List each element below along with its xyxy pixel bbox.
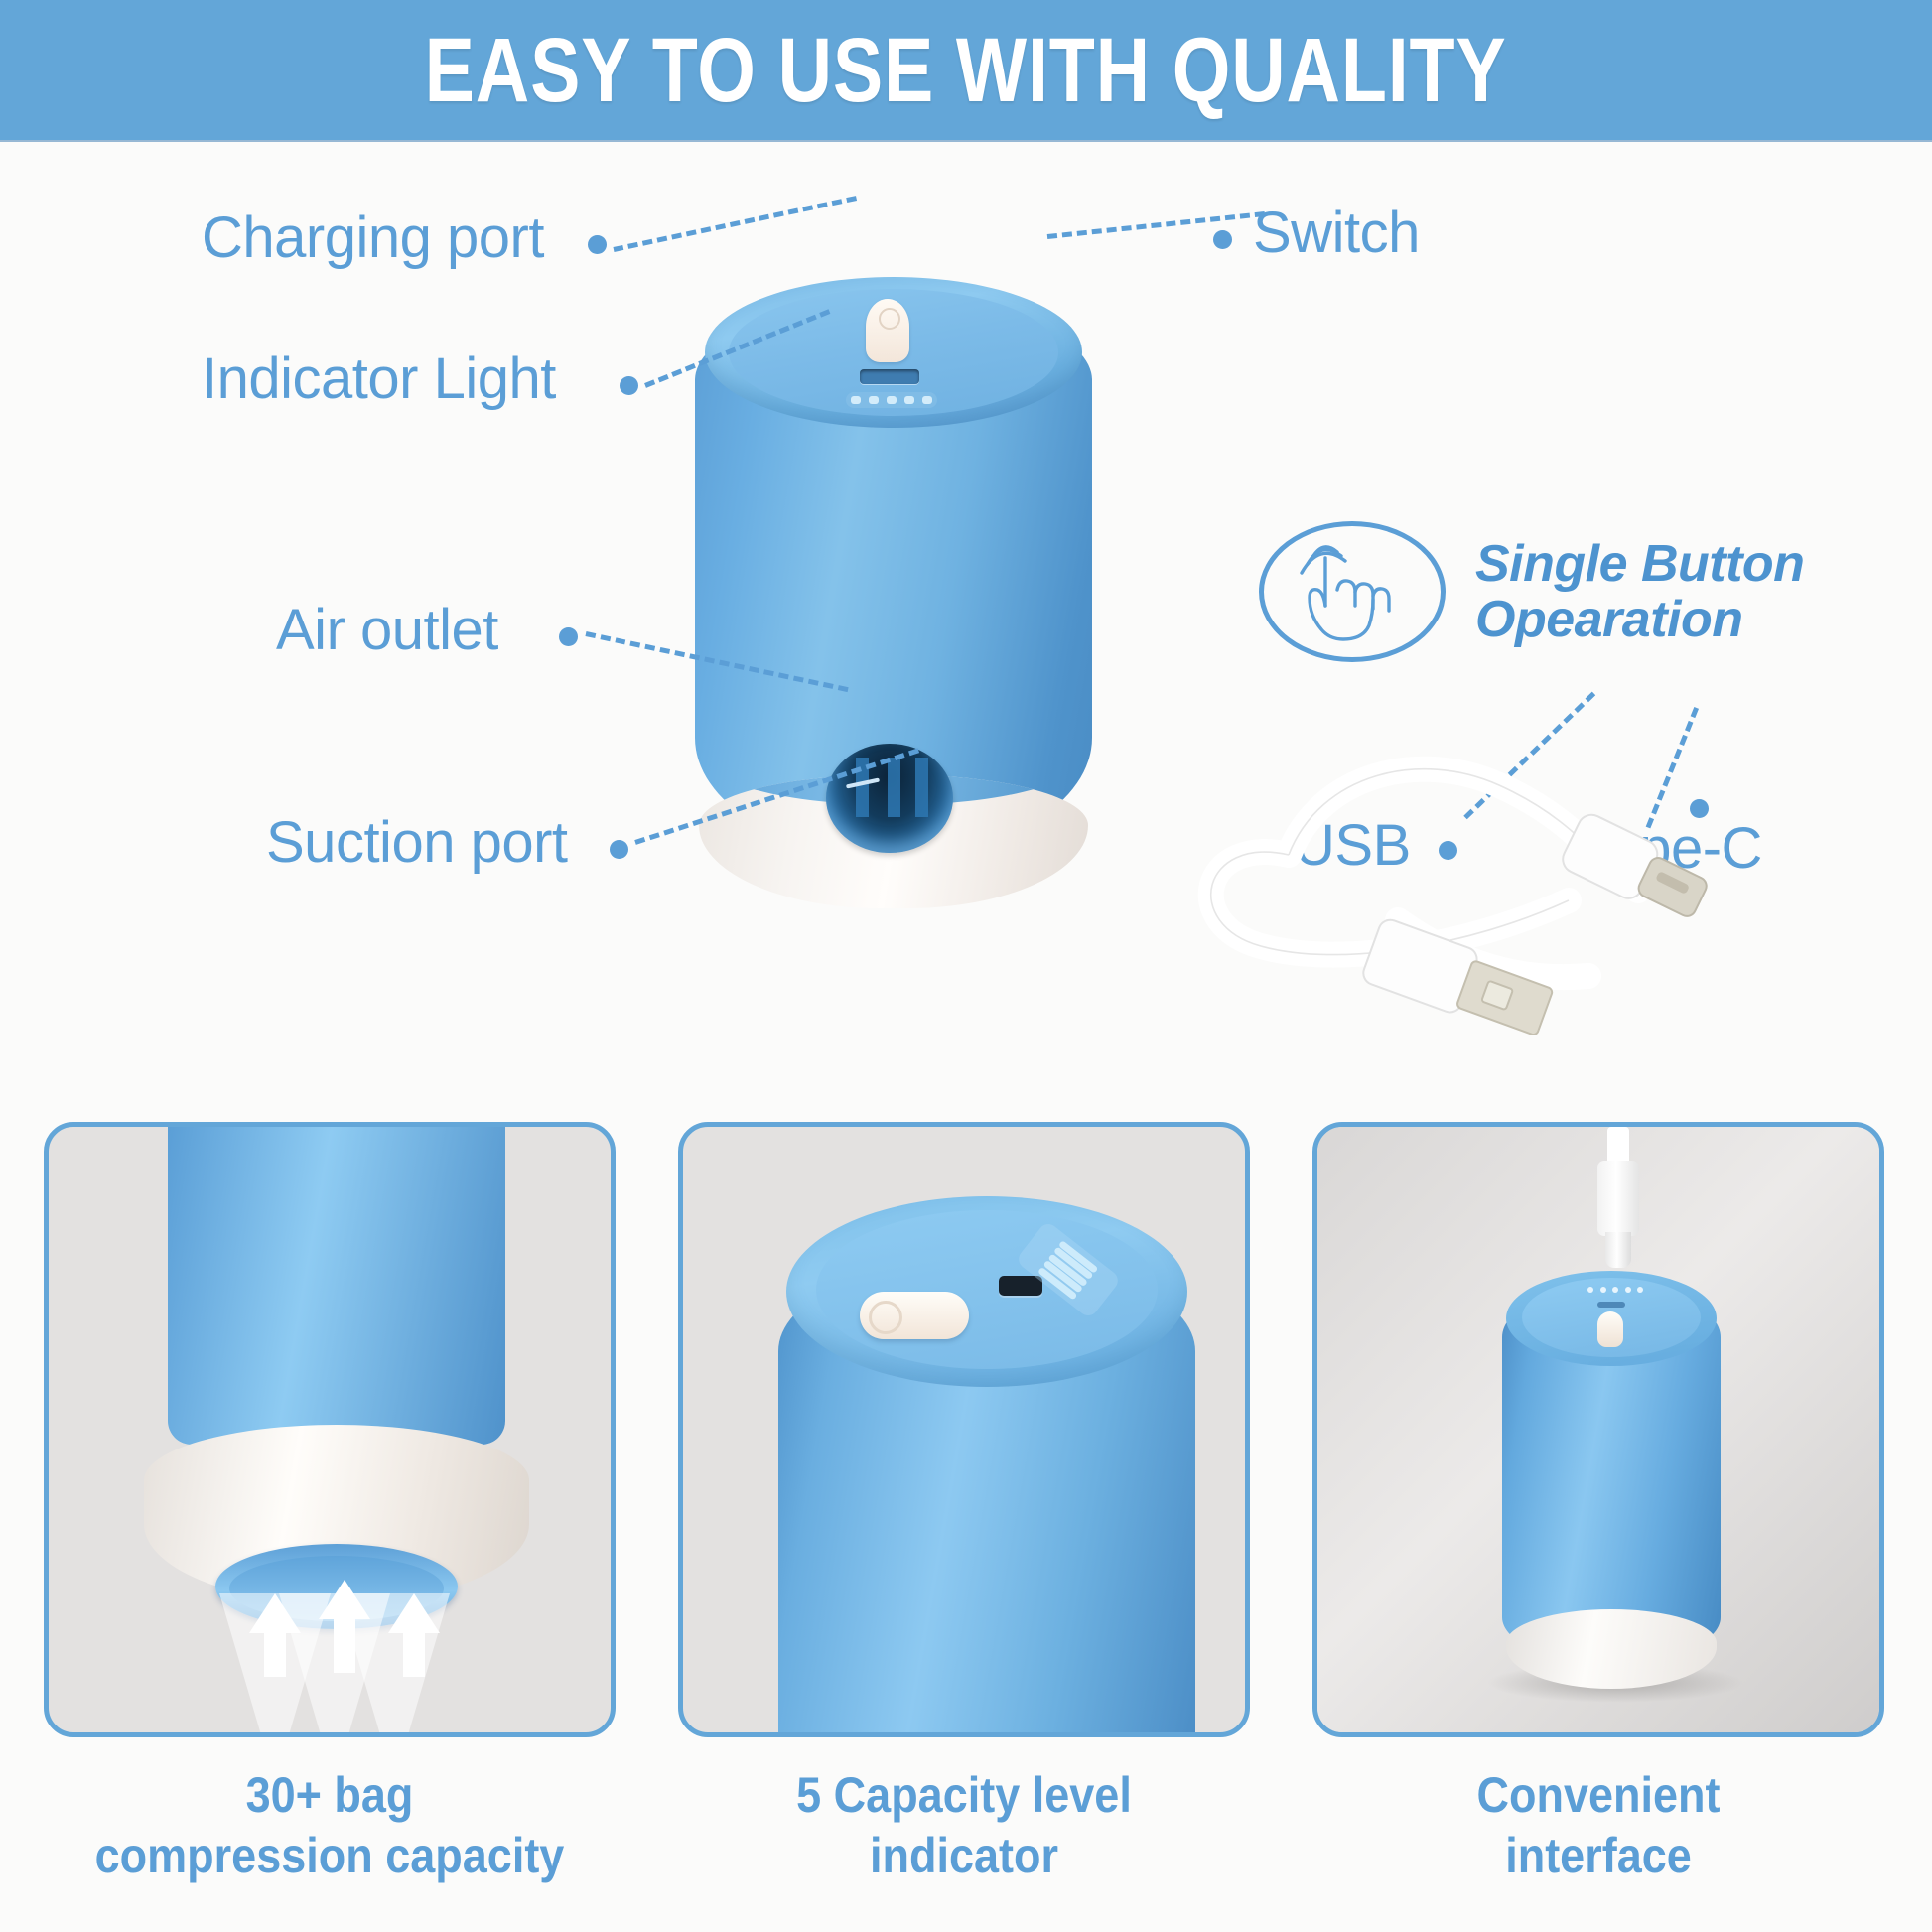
feature-panel-air-outlet [44,1122,616,1737]
badge-line-2: Opearation [1475,592,1804,647]
indicator-light-leds [846,392,937,408]
caption-line-2: indicator [696,1826,1232,1886]
airflow-arrow-icon [249,1593,301,1633]
single-button-badge-text: Single Button Opearation [1475,536,1804,647]
tap-hand-icon [1259,521,1446,662]
panel-caption-air-outlet: 30+ bag compression capacity [62,1765,598,1886]
callout-dot-charging-port [588,235,607,254]
caption-line-1: 5 Capacity level [696,1765,1232,1826]
type-c-plug-icon [1597,1161,1639,1236]
led-dot [922,396,932,404]
callout-dot-suction-port [610,840,628,859]
charging-port-icon [860,369,919,384]
feature-panel-capacity-indicator [678,1122,1250,1737]
panel1-device-body [168,1122,505,1445]
callout-dot-switch [1213,230,1232,249]
hero-section: Charging port Indicator Light Air outlet… [0,140,1932,1122]
airflow-arrow-stem [334,1617,355,1673]
led-dot [1600,1287,1606,1293]
callout-suction-port: Suction port [266,814,568,872]
panel3-capacity-leds [1587,1286,1643,1294]
caption-line-1: 30+ bag [62,1765,598,1826]
led-dot [869,396,879,404]
led-dot [851,396,861,404]
badge-line-1: Single Button [1475,536,1804,592]
led-dot [1637,1287,1643,1293]
callout-dot-indicator-light [620,376,638,395]
caption-line-1: Convenient [1330,1765,1866,1826]
feature-panel-interface [1312,1122,1884,1737]
usb-cable-illustration [1172,716,1787,1043]
single-button-badge: Single Button Opearation [1259,522,1894,661]
led-dot [1587,1287,1593,1293]
airflow-arrow-icon [319,1580,370,1619]
caption-line-2: compression capacity [62,1826,598,1886]
callout-air-outlet: Air outlet [276,602,498,659]
panel-caption-capacity-indicator: 5 Capacity level indicator [696,1765,1232,1886]
callout-indicator-light: Indicator Light [202,350,556,408]
type-c-plug-tip [1605,1232,1631,1268]
power-switch-icon[interactable] [866,299,909,362]
charging-port-icon [999,1276,1042,1296]
panel-caption-interface: Convenient interface [1330,1765,1866,1886]
airflow-arrow-stem [403,1631,425,1677]
callout-dot-air-outlet [559,627,578,646]
leader-switch [1047,211,1265,239]
callout-switch: Switch [1253,205,1420,262]
led-dot [887,396,897,404]
page-header: EASY TO USE WITH QUALITY [0,0,1932,140]
power-switch-icon[interactable] [860,1292,969,1339]
panel3-charging-port [1597,1302,1625,1308]
airflow-arrow-stem [264,1631,286,1677]
callout-charging-port: Charging port [202,209,544,267]
airflow-arrow-icon [388,1593,440,1633]
led-dot [1612,1287,1618,1293]
caption-line-2: interface [1330,1826,1866,1886]
panel3-power-switch[interactable] [1597,1311,1623,1347]
led-dot [904,396,914,404]
led-dot [1625,1287,1631,1293]
page-title: EASY TO USE WITH QUALITY [425,25,1507,116]
